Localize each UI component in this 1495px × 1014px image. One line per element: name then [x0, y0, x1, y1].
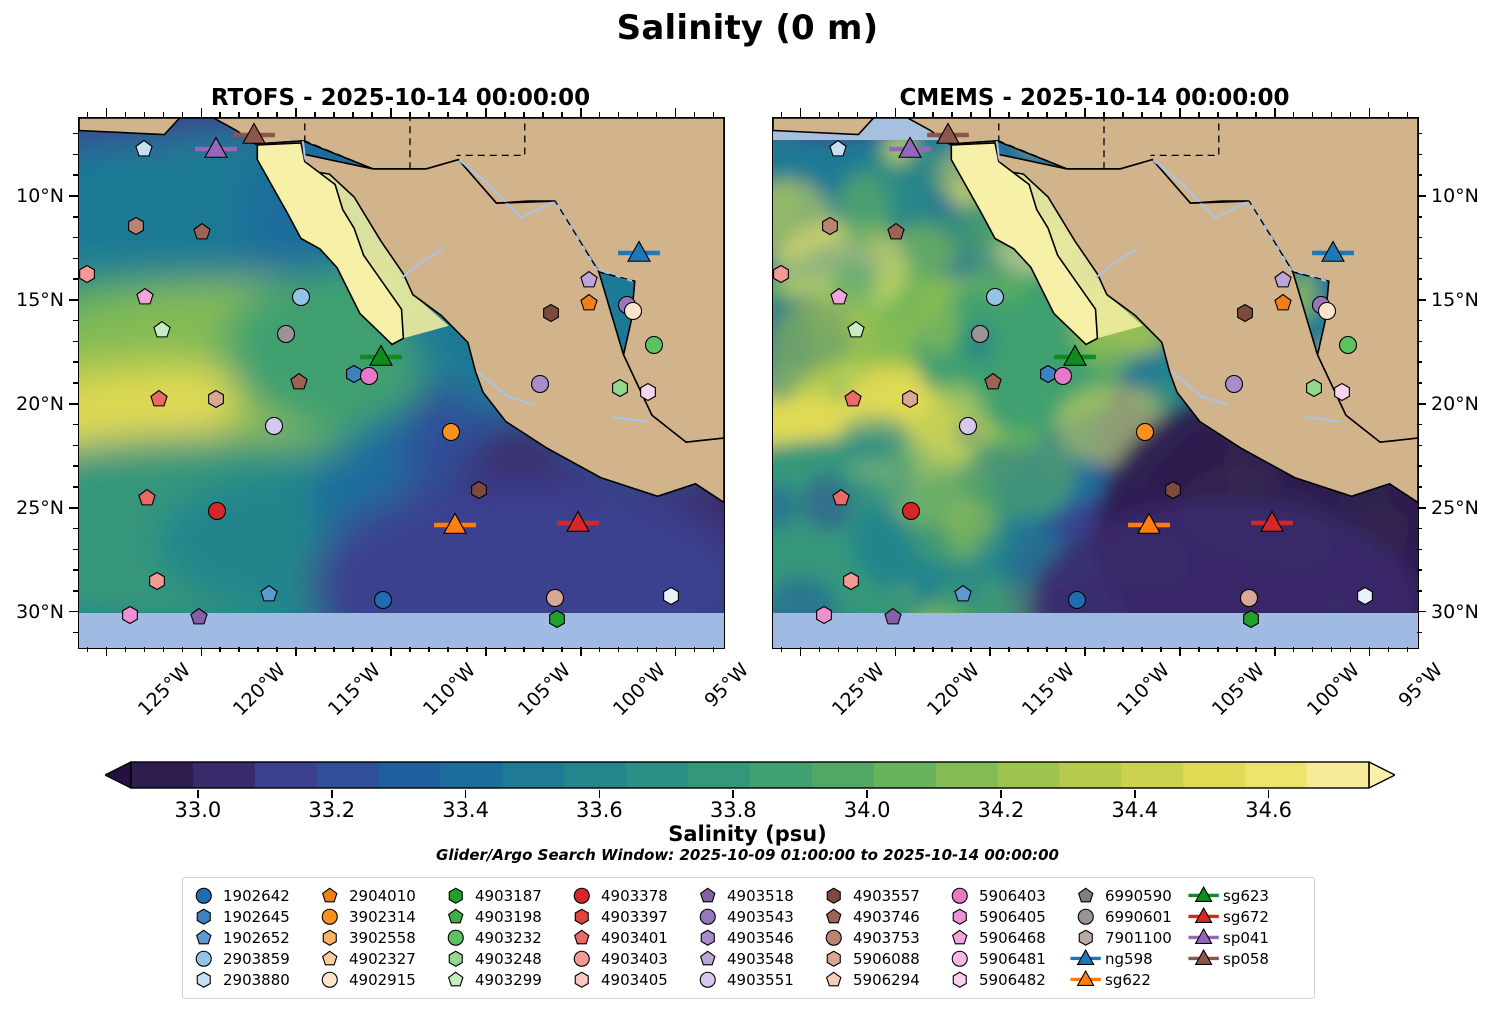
x-tick	[295, 647, 297, 656]
legend-item-label: sp041	[1223, 929, 1269, 947]
x-tick	[485, 108, 487, 117]
platform-legend[interactable]: 1902642190264519026522903859290388029040…	[182, 877, 1315, 999]
legend-item-4903397[interactable]: 4903397	[569, 906, 695, 927]
y-tick	[73, 465, 78, 467]
platform-marker-4903299[interactable]	[151, 319, 173, 341]
x-tick	[523, 112, 525, 117]
x-tick	[87, 647, 89, 652]
y-tick-label: 20°N	[1431, 393, 1495, 415]
platform-marker-4903551[interactable]	[263, 415, 285, 437]
x-tick	[1274, 108, 1276, 117]
platform-marker-5906088[interactable]	[205, 388, 227, 410]
x-tick	[970, 647, 972, 652]
y-tick	[1417, 486, 1422, 488]
legend-item-label: sp058	[1223, 950, 1269, 968]
colorbar-tick-label: 33.0	[175, 798, 222, 822]
legend-item-4902327[interactable]: 4902327	[317, 948, 443, 969]
legend-item-label: 4903548	[727, 950, 794, 968]
legend-item-3902558[interactable]: 3902558	[317, 927, 443, 948]
x-tick-label: 120°W	[923, 659, 984, 720]
y-tick	[1417, 611, 1426, 613]
platform-marker-2903880[interactable]	[132, 138, 154, 160]
colorbar-tick-label: 34.0	[844, 798, 891, 822]
legend-item-sp041[interactable]: sp041	[1191, 927, 1287, 948]
y-tick	[73, 528, 78, 530]
float-marker-icon	[821, 970, 847, 990]
platform-marker-4903403b[interactable]	[840, 570, 862, 592]
platform-marker-4903753[interactable]	[125, 215, 147, 237]
float-marker-icon	[191, 928, 217, 948]
legend-item-label: 4903518	[727, 887, 794, 905]
x-tick	[1369, 647, 1371, 656]
colorbar-tick-label: 33.6	[576, 798, 623, 822]
platform-marker-5906468[interactable]	[828, 286, 850, 308]
platform-marker-4903378[interactable]	[900, 500, 922, 522]
platform-marker-3902314[interactable]	[440, 421, 462, 443]
x-tick	[257, 112, 259, 117]
x-tick	[876, 112, 878, 117]
legend-item-label: 4903753	[853, 929, 920, 947]
y-tick	[1417, 382, 1422, 384]
legend-column-9: sg623sg672sp041sp058	[1191, 885, 1287, 969]
platform-marker-6990601[interactable]	[275, 323, 297, 345]
x-tick	[932, 647, 934, 652]
legend-item-label: ng598	[1105, 950, 1153, 968]
platform-marker-sp058[interactable]	[925, 120, 971, 149]
x-tick	[580, 108, 582, 117]
legend-item-4903518[interactable]: 4903518	[695, 885, 821, 906]
x-tick	[675, 647, 677, 656]
platform-marker-2904010[interactable]	[578, 292, 600, 314]
legend-item-4903546[interactable]: 4903546	[695, 927, 821, 948]
float-marker-icon	[1073, 928, 1099, 948]
x-tick-label: 105°W	[1208, 659, 1269, 720]
legend-item-6990590[interactable]: 6990590	[1073, 885, 1191, 906]
x-tick	[1084, 647, 1086, 656]
x-tick	[561, 112, 563, 117]
legend-column-6: 49035574903746490375359060885906294	[821, 885, 947, 990]
x-tick	[819, 647, 821, 652]
platform-marker-4903248[interactable]	[609, 377, 631, 399]
legend-item-4903401[interactable]: 4903401	[569, 927, 695, 948]
float-marker-icon	[317, 970, 343, 990]
y-tick	[73, 154, 78, 156]
legend-item-label: 4903557	[853, 887, 920, 905]
platform-marker-5906088b[interactable]	[1238, 587, 1260, 609]
float-marker-icon	[695, 928, 721, 948]
x-tick	[1236, 112, 1238, 117]
platform-marker-1902642[interactable]	[371, 589, 393, 611]
legend-item-label: 4903546	[727, 929, 794, 947]
legend-item-4903187[interactable]: 4903187	[443, 885, 569, 906]
x-tick	[1198, 112, 1200, 117]
legend-item-2904010[interactable]: 2904010	[317, 885, 443, 906]
x-tick	[523, 647, 525, 652]
legend-item-5906403[interactable]: 5906403	[947, 885, 1073, 906]
platform-marker-4903232[interactable]	[1337, 334, 1359, 356]
y-tick	[1417, 216, 1422, 218]
legend-item-label: 2903880	[223, 971, 290, 989]
x-tick	[428, 647, 430, 652]
x-tick	[561, 647, 563, 652]
x-tick	[1255, 647, 1257, 652]
legend-item-label: 4903551	[727, 971, 794, 989]
platform-marker-4903518[interactable]	[881, 606, 903, 628]
legend-item-ng598[interactable]: ng598	[1073, 948, 1191, 969]
x-tick	[1293, 112, 1295, 117]
legend-column-3: 49031874903198490323249032484903299	[443, 885, 569, 990]
y-tick-label: 25°N	[1431, 497, 1495, 519]
x-tick	[182, 647, 184, 652]
x-tick	[694, 647, 696, 652]
y-tick	[1417, 320, 1422, 322]
x-tick	[599, 647, 601, 652]
platform-marker-1902652[interactable]	[952, 583, 974, 605]
legend-item-4903198[interactable]: 4903198	[443, 906, 569, 927]
platform-marker-5906405[interactable]	[119, 604, 141, 626]
platform-marker-ng598[interactable]	[616, 239, 662, 268]
colorbar-tick	[1134, 790, 1136, 798]
x-tick	[1369, 108, 1371, 117]
legend-item-4903232[interactable]: 4903232	[443, 927, 569, 948]
y-tick	[73, 445, 78, 447]
platform-marker-5906468[interactable]	[134, 286, 156, 308]
y-tick	[73, 320, 78, 322]
x-tick	[1274, 647, 1276, 656]
platform-marker-4903551[interactable]	[957, 415, 979, 437]
x-tick	[125, 112, 127, 117]
y-tick	[73, 569, 78, 571]
platform-marker-4902915[interactable]	[1316, 300, 1338, 322]
platform-marker-4903548[interactable]	[578, 269, 600, 291]
legend-item-4903378[interactable]: 4903378	[569, 885, 695, 906]
glider-marker-icon	[1191, 928, 1217, 948]
y-tick	[73, 133, 78, 135]
platform-marker-2904010[interactable]	[1272, 292, 1294, 314]
y-tick	[73, 174, 78, 176]
x-tick	[314, 112, 316, 117]
legend-item-5906405[interactable]: 5906405	[947, 906, 1073, 927]
x-tick	[618, 647, 620, 652]
platform-marker-4903378[interactable]	[206, 500, 228, 522]
legend-item-5906088[interactable]: 5906088	[821, 948, 947, 969]
platform-marker-4903299[interactable]	[845, 319, 867, 341]
platform-marker-4903232[interactable]	[643, 334, 665, 356]
platform-marker-4903746b[interactable]	[982, 371, 1004, 393]
legend-item-4903557[interactable]: 4903557	[821, 885, 947, 906]
x-tick-label: 95°W	[700, 659, 753, 712]
y-tick	[69, 403, 78, 405]
x-tick	[466, 112, 468, 117]
x-tick	[542, 647, 544, 652]
legend-item-sg672[interactable]: sg672	[1191, 906, 1287, 927]
figure-title: Salinity (0 m)	[0, 8, 1495, 48]
platform-marker-2903859[interactable]	[290, 286, 312, 308]
float-marker-icon	[947, 928, 973, 948]
platform-marker-4903746b[interactable]	[288, 371, 310, 393]
legend-item-5906482[interactable]: 5906482	[947, 969, 1073, 990]
legend-item-label: 2903859	[223, 950, 290, 968]
platform-marker-2903880b[interactable]	[1354, 585, 1376, 607]
legend-item-sg623[interactable]: sg623	[1191, 885, 1287, 906]
colorbar-tick-label: 33.4	[442, 798, 489, 822]
platform-marker-5906088[interactable]	[899, 388, 921, 410]
legend-item-1902642[interactable]: 1902642	[191, 885, 317, 906]
colorbar-tick	[1000, 790, 1002, 798]
legend-item-4903403[interactable]: 4903403	[569, 948, 695, 969]
legend-item-label: 4903397	[601, 908, 668, 926]
y-tick	[1417, 549, 1422, 551]
x-tick	[1141, 647, 1143, 652]
platform-marker-4902915[interactable]	[622, 300, 644, 322]
x-tick	[1350, 647, 1352, 652]
legend-item-label: 5906481	[979, 950, 1046, 968]
platform-marker-5906403[interactable]	[1052, 365, 1074, 387]
legend-item-1902652[interactable]: 1902652	[191, 927, 317, 948]
platform-marker-4903548[interactable]	[1272, 269, 1294, 291]
legend-item-5906294[interactable]: 5906294	[821, 969, 947, 990]
legend-item-4903405[interactable]: 4903405	[569, 969, 695, 990]
x-tick	[1217, 112, 1219, 117]
x-tick	[637, 112, 639, 117]
x-tick	[1084, 108, 1086, 117]
y-tick	[69, 195, 78, 197]
platform-marker-2903859[interactable]	[984, 286, 1006, 308]
panel-title-rtofs: RTOFS - 2025-10-14 00:00:00	[78, 85, 723, 111]
y-tick	[1417, 424, 1422, 426]
x-tick	[618, 112, 620, 117]
legend-item-5906481[interactable]: 5906481	[947, 948, 1073, 969]
y-tick	[1417, 133, 1422, 135]
y-tick	[1417, 278, 1422, 280]
float-marker-icon	[443, 970, 469, 990]
platform-marker-1902642[interactable]	[1065, 589, 1087, 611]
y-tick	[73, 278, 78, 280]
x-tick	[1407, 112, 1409, 117]
x-tick	[1179, 647, 1181, 656]
glider-marker-icon	[1191, 886, 1217, 906]
legend-item-2903880[interactable]: 2903880	[191, 969, 317, 990]
platform-marker-4903187[interactable]	[1240, 608, 1262, 630]
legend-item-label: 5906403	[979, 887, 1046, 905]
float-marker-icon	[569, 886, 595, 906]
x-tick	[106, 647, 108, 656]
legend-item-2903859[interactable]: 2903859	[191, 948, 317, 969]
x-tick	[257, 647, 259, 652]
y-tick	[73, 486, 78, 488]
platform-marker-sg622[interactable]	[432, 511, 478, 540]
legend-item-6990601[interactable]: 6990601	[1073, 906, 1191, 927]
legend-item-label: 7901100	[1105, 929, 1172, 947]
float-marker-icon	[569, 949, 595, 969]
platform-marker-4903401[interactable]	[842, 388, 864, 410]
x-tick	[1217, 647, 1219, 652]
y-tick	[73, 237, 78, 239]
platform-marker-4903746[interactable]	[191, 221, 213, 243]
x-tick	[932, 112, 934, 117]
x-tick	[1008, 112, 1010, 117]
x-tick	[1350, 112, 1352, 117]
x-tick	[504, 647, 506, 652]
platform-marker-4903187[interactable]	[546, 608, 568, 630]
platform-marker-4903557b[interactable]	[1234, 302, 1256, 324]
x-tick-label: 110°W	[419, 659, 480, 720]
float-marker-icon	[947, 886, 973, 906]
x-tick	[838, 112, 840, 117]
y-tick	[1417, 258, 1422, 260]
platform-marker-2903880[interactable]	[826, 138, 848, 160]
platform-marker-4903403[interactable]	[78, 263, 98, 285]
x-tick	[1312, 112, 1314, 117]
legend-item-label: sg672	[1223, 908, 1269, 926]
x-tick	[857, 647, 859, 652]
x-tick-label: 125°W	[134, 659, 195, 720]
platform-marker-4903403[interactable]	[772, 263, 792, 285]
legend-item-4903551[interactable]: 4903551	[695, 969, 821, 990]
legend-item-1902645[interactable]: 1902645	[191, 906, 317, 927]
float-marker-icon	[443, 928, 469, 948]
legend-item-4903248[interactable]: 4903248	[443, 948, 569, 969]
platform-marker-4903401[interactable]	[148, 388, 170, 410]
x-tick	[466, 647, 468, 652]
x-tick	[694, 112, 696, 117]
platform-marker-4903746[interactable]	[885, 221, 907, 243]
colorbar-tick	[331, 790, 333, 798]
x-tick	[1008, 647, 1010, 652]
map-axes-cmems[interactable]	[772, 117, 1419, 649]
x-tick	[989, 108, 991, 117]
platform-marker-4903557[interactable]	[1162, 479, 1184, 501]
x-tick	[1388, 647, 1390, 652]
x-tick	[163, 112, 165, 117]
platform-marker-4903401b[interactable]	[830, 487, 852, 509]
x-tick	[371, 112, 373, 117]
x-tick	[656, 647, 658, 652]
x-tick	[333, 112, 335, 117]
y-tick	[73, 216, 78, 218]
x-tick-label: 125°W	[828, 659, 889, 720]
x-tick	[800, 108, 802, 117]
platform-marker-1902652[interactable]	[258, 583, 280, 605]
x-tick	[1141, 112, 1143, 117]
x-tick	[1236, 647, 1238, 652]
platform-marker-sg672[interactable]	[555, 509, 601, 538]
platform-marker-4903557b[interactable]	[540, 302, 562, 324]
float-marker-icon	[443, 907, 469, 927]
y-tick-label: 30°N	[1431, 601, 1495, 623]
x-tick	[675, 108, 677, 117]
platform-marker-4903403b[interactable]	[146, 570, 168, 592]
x-tick	[144, 112, 146, 117]
legend-item-label: 4903378	[601, 887, 668, 905]
x-tick-label: 95°W	[1394, 659, 1447, 712]
legend-item-3902314[interactable]: 3902314	[317, 906, 443, 927]
y-tick	[1417, 528, 1422, 530]
platform-marker-sp058[interactable]	[231, 120, 277, 149]
x-tick	[201, 108, 203, 117]
x-tick	[485, 647, 487, 656]
float-marker-icon	[569, 970, 595, 990]
legend-item-7901100[interactable]: 7901100	[1073, 927, 1191, 948]
platform-marker-ng598[interactable]	[1310, 239, 1356, 268]
platform-marker-4903546[interactable]	[529, 373, 551, 395]
float-marker-icon	[695, 949, 721, 969]
legend-item-label: 6990590	[1105, 887, 1172, 905]
search-window-caption: Glider/Argo Search Window: 2025-10-09 01…	[0, 846, 1495, 864]
platform-marker-sg672[interactable]	[1249, 509, 1295, 538]
x-tick	[781, 647, 783, 652]
y-tick	[73, 341, 78, 343]
x-tick	[1293, 647, 1295, 652]
legend-column-8: 699059069906017901100ng598sg622	[1073, 885, 1191, 990]
platform-marker-3902314[interactable]	[1134, 421, 1156, 443]
colorbar-tick	[732, 790, 734, 798]
platform-marker-4903248[interactable]	[1303, 377, 1325, 399]
legend-item-label: 3902558	[349, 929, 416, 947]
float-marker-icon	[1073, 907, 1099, 927]
x-tick	[1103, 112, 1105, 117]
x-tick	[895, 647, 897, 656]
legend-item-4903548[interactable]: 4903548	[695, 948, 821, 969]
legend-item-5906468[interactable]: 5906468	[947, 927, 1073, 948]
platform-marker-5906482[interactable]	[1331, 381, 1353, 403]
x-tick	[504, 112, 506, 117]
platform-marker-4903753[interactable]	[819, 215, 841, 237]
platform-marker-5906405[interactable]	[813, 604, 835, 626]
legend-item-label: 4902915	[349, 971, 416, 989]
float-marker-icon	[695, 886, 721, 906]
y-tick	[73, 424, 78, 426]
float-marker-icon	[695, 907, 721, 927]
x-tick	[989, 647, 991, 656]
legend-item-4903299[interactable]: 4903299	[443, 969, 569, 990]
no-data-band-bottom	[773, 613, 1418, 648]
x-tick	[1027, 647, 1029, 652]
legend-item-4903746[interactable]: 4903746	[821, 906, 947, 927]
y-tick	[1417, 237, 1422, 239]
x-tick	[1046, 112, 1048, 117]
legend-item-4902915[interactable]: 4902915	[317, 969, 443, 990]
platform-marker-5906088b[interactable]	[544, 587, 566, 609]
x-tick	[314, 647, 316, 652]
x-tick	[219, 112, 221, 117]
x-tick	[580, 647, 582, 656]
legend-item-4903753[interactable]: 4903753	[821, 927, 947, 948]
legend-item-sg622[interactable]: sg622	[1073, 969, 1191, 990]
x-tick	[1255, 112, 1257, 117]
platform-marker-4903557[interactable]	[468, 479, 490, 501]
x-tick	[1407, 647, 1409, 652]
platform-marker-5906482[interactable]	[637, 381, 659, 403]
y-tick-label: 15°N	[1431, 289, 1495, 311]
platform-marker-sg622[interactable]	[1126, 511, 1172, 540]
platform-marker-4903546[interactable]	[1223, 373, 1245, 395]
legend-item-4903543[interactable]: 4903543	[695, 906, 821, 927]
legend-item-sp058[interactable]: sp058	[1191, 948, 1287, 969]
platform-marker-5906403[interactable]	[358, 365, 380, 387]
x-tick	[87, 112, 89, 117]
platform-marker-4903401b[interactable]	[136, 487, 158, 509]
map-axes-rtofs[interactable]	[78, 117, 725, 649]
platform-marker-4903518[interactable]	[187, 606, 209, 628]
x-tick-label: 100°W	[609, 659, 670, 720]
legend-item-label: sg622	[1105, 971, 1151, 989]
no-data-band-top	[773, 118, 1418, 140]
legend-item-label: 4903405	[601, 971, 668, 989]
platform-marker-6990601[interactable]	[969, 323, 991, 345]
platform-marker-2903880b[interactable]	[660, 585, 682, 607]
x-tick	[819, 112, 821, 117]
